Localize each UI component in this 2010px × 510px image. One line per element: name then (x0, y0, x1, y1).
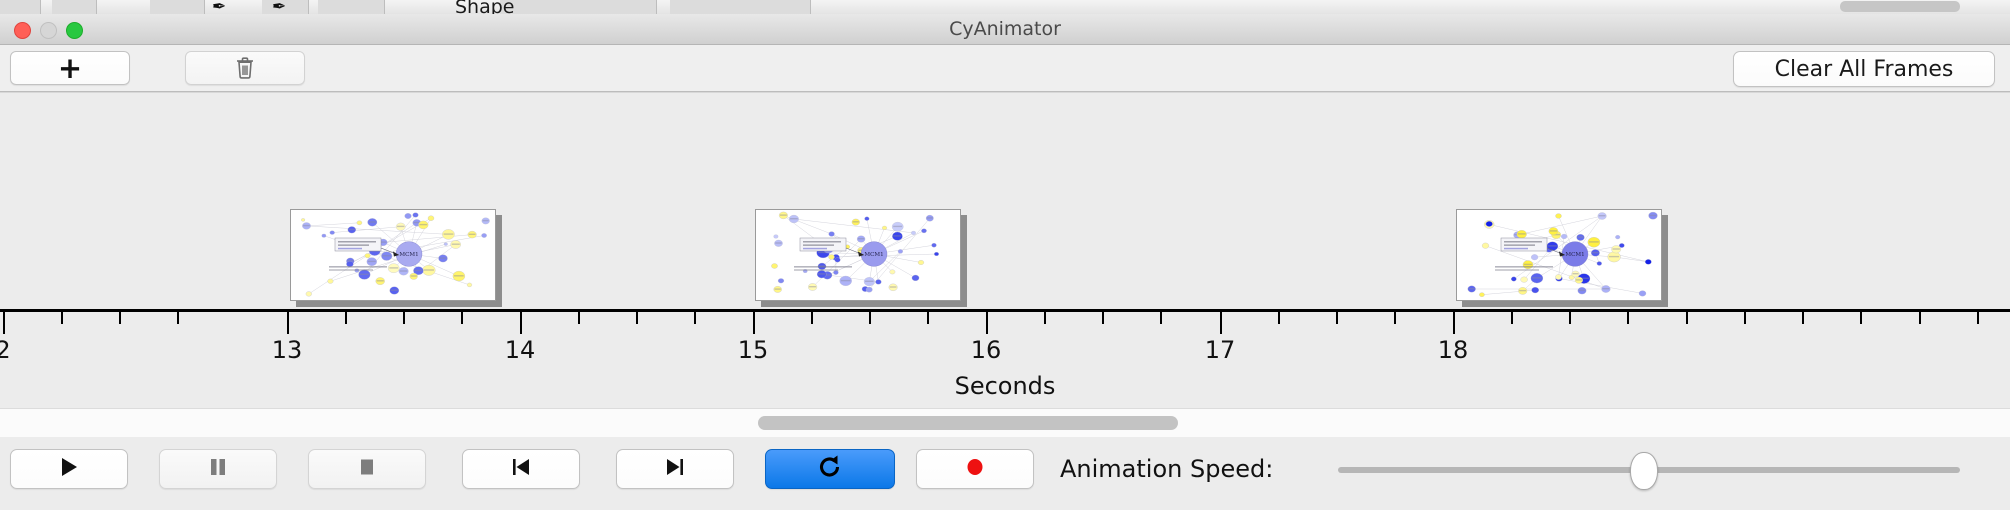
timeline-frame-thumbnail[interactable]: MCM1 (1456, 209, 1668, 307)
background-scrollbar-thumb[interactable] (1840, 1, 1960, 12)
background-tab (670, 0, 811, 14)
axis-tick (1453, 312, 1455, 334)
background-window-strip: ✒ ✒ Shape (0, 0, 2010, 14)
clear-all-frames-button[interactable]: Clear All Frames (1733, 51, 1995, 87)
axis-tick (1044, 312, 1046, 324)
add-frame-button[interactable]: + (10, 51, 130, 85)
axis-tick (1394, 312, 1396, 324)
skip-start-button[interactable] (462, 449, 580, 489)
pause-button[interactable] (159, 449, 277, 489)
axis-tick (1160, 312, 1162, 324)
axis-tick (578, 312, 580, 324)
plus-icon: + (58, 54, 82, 83)
background-tab (0, 0, 41, 14)
frame-network-preview: MCM1 (1456, 209, 1662, 301)
axis-tick-label: 2 (0, 336, 11, 364)
background-tab (52, 0, 97, 14)
axis-tick-label: 15 (738, 336, 769, 364)
axis-tick (753, 312, 755, 334)
cyanimator-window: ✒ ✒ Shape CyAnimator + Clear All Frames … (0, 0, 2010, 510)
background-tab (500, 0, 657, 14)
background-glyph-icon: ✒ (272, 0, 286, 14)
transport-bar: Animation Speed: (0, 437, 2010, 510)
axis-tick (461, 312, 463, 324)
axis-tick (61, 312, 63, 324)
slider-thumb[interactable] (1630, 452, 1658, 490)
pause-icon (207, 455, 229, 483)
axis-tick (345, 312, 347, 324)
axis-tick (694, 312, 696, 324)
axis-tick (1278, 312, 1280, 324)
axis-tick (403, 312, 405, 324)
title-bar: CyAnimator (0, 14, 2010, 45)
skip-end-button[interactable] (616, 449, 734, 489)
frame-network-preview: MCM1 (290, 209, 496, 301)
axis-tick (1919, 312, 1921, 324)
axis-caption: Seconds (0, 372, 2010, 400)
timeline-scrollbar[interactable] (0, 408, 2010, 438)
skip-end-icon (663, 455, 687, 483)
timeline-frame-thumbnail[interactable]: MCM1 (290, 209, 502, 307)
timeline-scrollbar-thumb[interactable] (758, 416, 1178, 430)
axis-tick (1686, 312, 1688, 324)
axis-tick (520, 312, 522, 334)
stop-button[interactable] (308, 449, 426, 489)
skip-start-icon (509, 455, 533, 483)
toolbar: + Clear All Frames (0, 45, 2010, 92)
trash-icon (235, 56, 255, 80)
background-tab (318, 0, 385, 14)
axis-tick (3, 312, 5, 334)
svg-text:MCM1: MCM1 (1565, 252, 1584, 258)
play-button[interactable] (10, 449, 128, 489)
axis-tick (811, 312, 813, 324)
axis-tick-label: 18 (1438, 336, 1469, 364)
background-glyph-icon: ✒ (212, 0, 226, 14)
axis-tick (1336, 312, 1338, 324)
animation-speed-label: Animation Speed: (1060, 449, 1273, 489)
background-partial-label: Shape (455, 0, 515, 14)
timeline-frame-thumbnail[interactable]: MCM1 (755, 209, 967, 307)
axis-tick (636, 312, 638, 324)
axis-tick (1860, 312, 1862, 324)
svg-text:MCM1: MCM1 (864, 252, 883, 258)
axis-tick (1744, 312, 1746, 324)
axis-tick (869, 312, 871, 324)
record-icon (963, 455, 987, 483)
axis-tick (287, 312, 289, 334)
axis-tick (119, 312, 121, 324)
window-title: CyAnimator (0, 14, 2010, 44)
axis-tick (1977, 312, 1979, 324)
play-icon (58, 455, 80, 483)
record-button[interactable] (916, 449, 1034, 489)
timeline-panel[interactable]: MCM1MCM1MCM1 2131415161718 Seconds (0, 92, 2010, 408)
axis-tick (1511, 312, 1513, 324)
axis-tick-label: 14 (505, 336, 536, 364)
axis-tick (1220, 312, 1222, 334)
loop-button[interactable] (765, 449, 895, 489)
background-tab (150, 0, 205, 14)
loop-icon (818, 454, 842, 484)
delete-frame-button[interactable] (185, 51, 305, 85)
svg-text:MCM1: MCM1 (399, 252, 418, 258)
axis-tick (986, 312, 988, 334)
axis-tick (1802, 312, 1804, 324)
frame-network-preview: MCM1 (755, 209, 961, 301)
axis-tick (177, 312, 179, 324)
axis-tick (1569, 312, 1571, 324)
axis-tick (1102, 312, 1104, 324)
axis-tick-label: 17 (1205, 336, 1236, 364)
axis-tick (1627, 312, 1629, 324)
timeline-axis (0, 309, 2010, 312)
axis-tick-label: 13 (272, 336, 303, 364)
axis-tick (927, 312, 929, 324)
stop-icon (356, 455, 378, 483)
axis-tick-label: 16 (971, 336, 1002, 364)
animation-speed-slider[interactable] (1338, 467, 1960, 473)
